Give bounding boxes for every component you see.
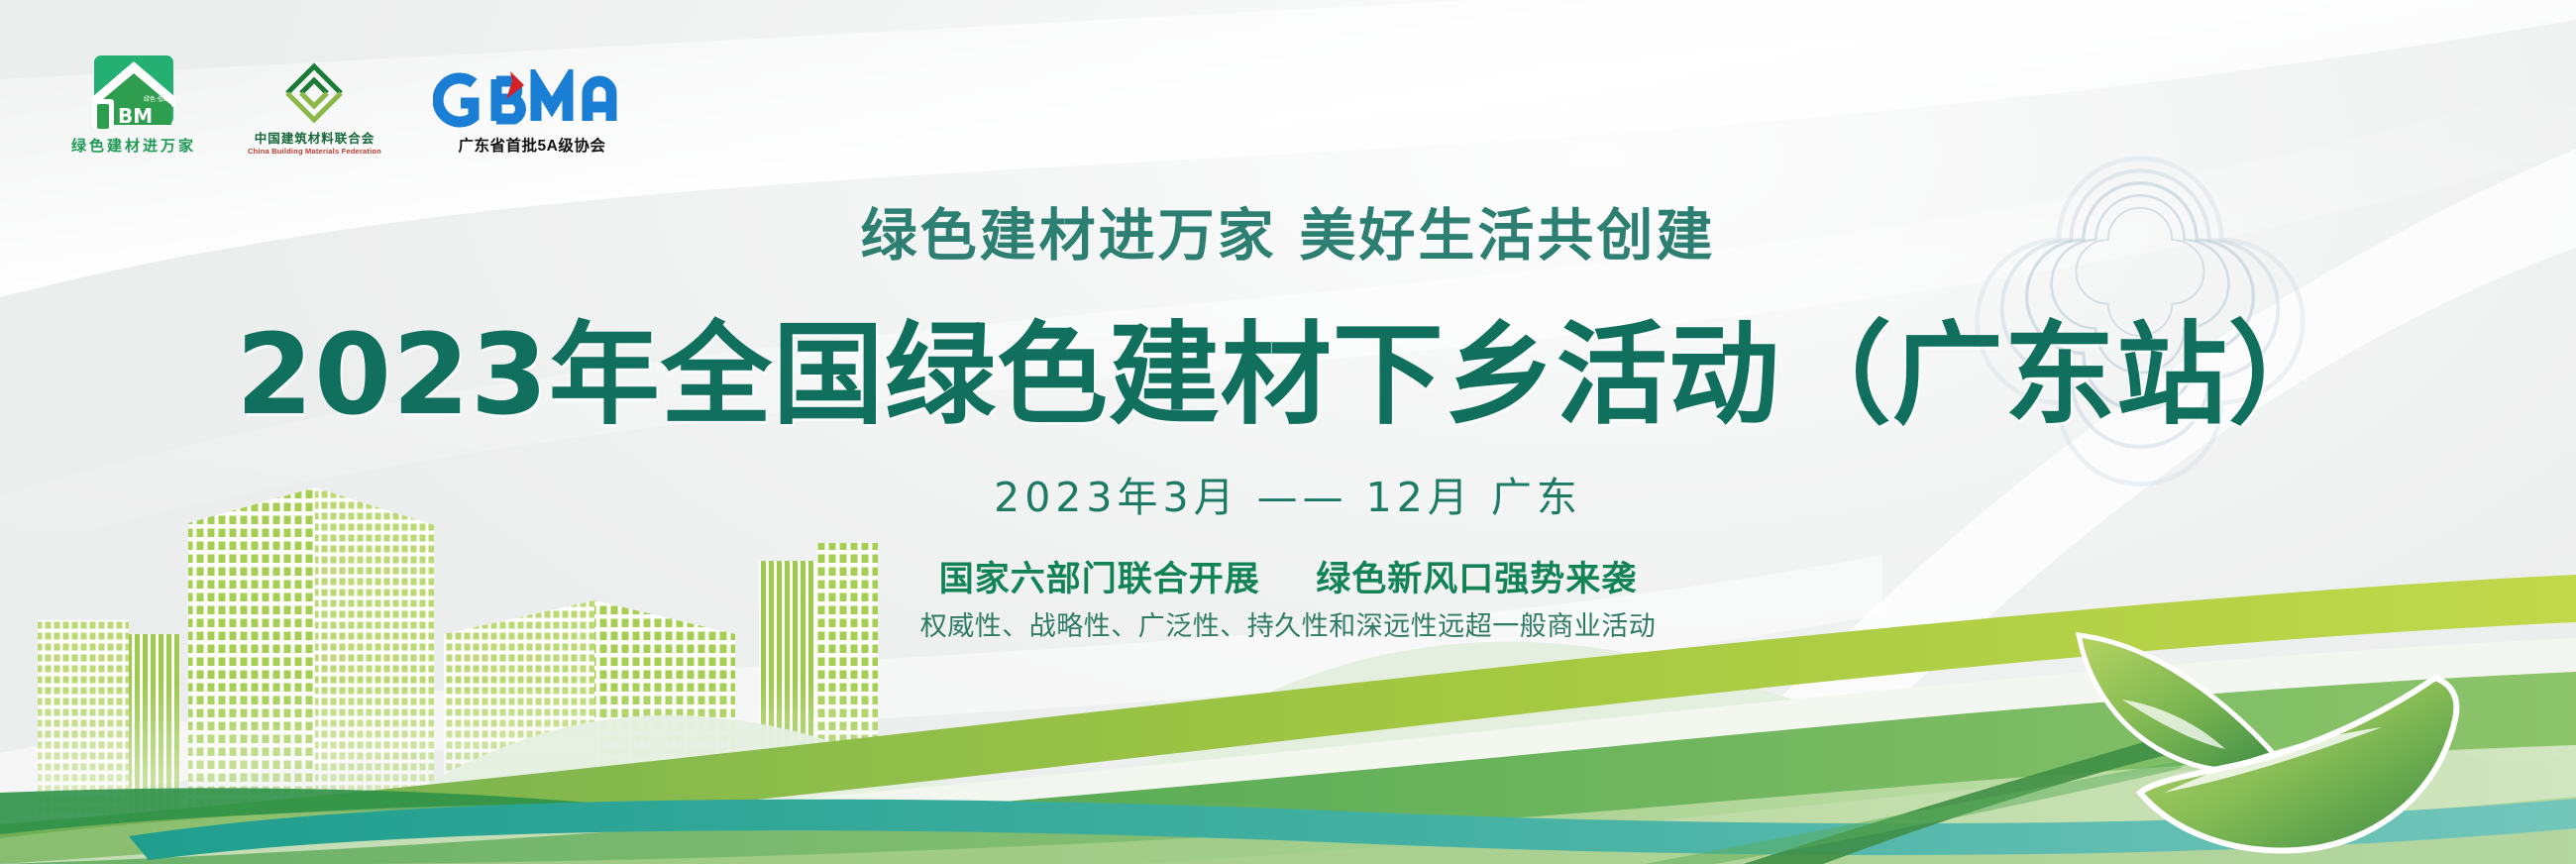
logo-caption: 广东省首批5A级协会 (459, 134, 606, 156)
logo-caption-en: China Building Materials Federation (248, 147, 381, 156)
logo-bar: 绿色·低碳·品质 BM 绿色建材进万家 中国建筑材料联合会 China Buil… (71, 52, 631, 156)
diamond-mountain-mark-icon (277, 54, 351, 127)
cbmf-logo: 中国建筑材料联合会 China Building Materials Feder… (248, 54, 381, 156)
event-tagline: 国家六部门联合开展 绿色新风口强势来袭 (0, 551, 2576, 601)
page-title: 2023年全国绿色建材下乡活动（广东站） (0, 285, 2576, 446)
event-fineprint: 权威性、战略性、广泛性、持久性和深远性远超一般商业活动 (0, 604, 2576, 643)
tagline-part-2: 绿色新风口强势来袭 (1316, 560, 1637, 599)
logo-caption: 中国建筑材料联合会 (255, 132, 376, 146)
tagline-part-1: 国家六部门联合开展 (939, 560, 1260, 599)
banner-subtitle: 绿色建材进万家 美好生活共创建 (0, 190, 2576, 271)
green-building-materials-logo: 绿色·低碳·品质 BM 绿色建材进万家 (71, 52, 196, 156)
logo-caption: 绿色建材进万家 (71, 135, 196, 156)
event-banner: 绿色·低碳·品质 BM 绿色建材进万家 中国建筑材料联合会 China Buil… (0, 0, 2576, 864)
gbma-wordmark-icon (433, 69, 631, 131)
event-date-line: 2023年3月 —— 12月 广东 (0, 464, 2576, 523)
svg-text:BM: BM (118, 104, 153, 128)
house-mark-icon: 绿色·低碳·品质 BM (88, 52, 179, 129)
gbma-logo: 广东省首批5A级协会 (433, 69, 631, 156)
svg-text:绿色·低碳·品质: 绿色·低碳·品质 (144, 95, 179, 103)
